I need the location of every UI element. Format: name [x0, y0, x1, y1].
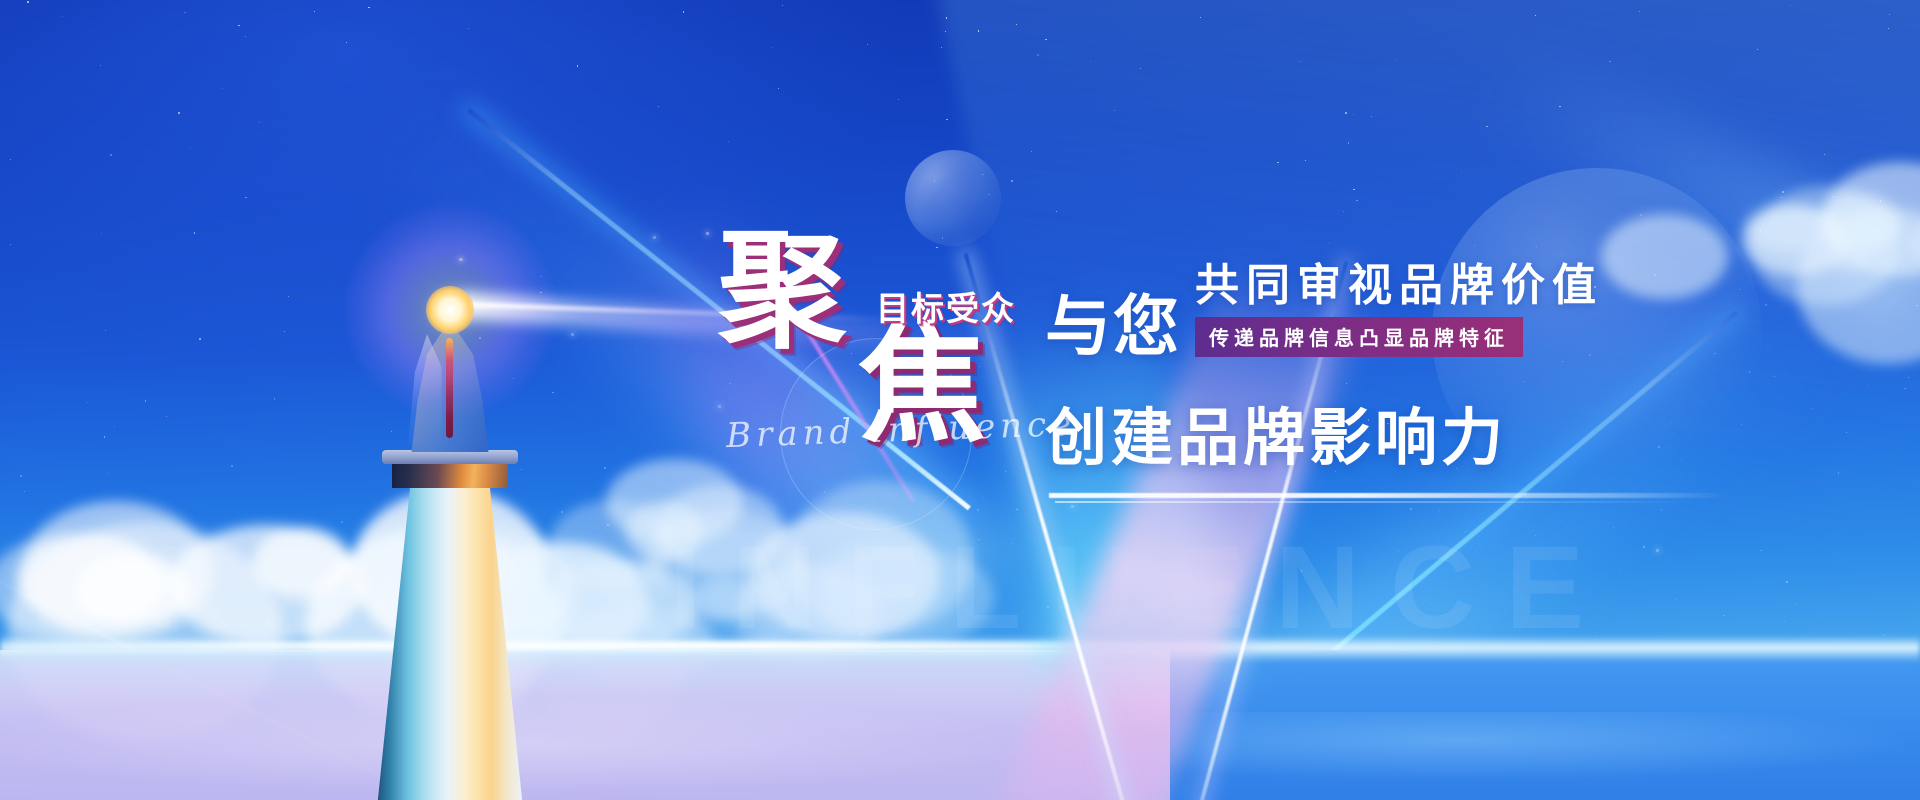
headline-underline-secondary: [1055, 501, 1695, 503]
right-first-line: 与您 共同审视品牌价值 传递品牌信息凸显品牌特征: [1045, 262, 1745, 359]
status-badge: 传递品牌信息凸显品牌特征: [1195, 317, 1523, 357]
value-and-badge-wrap: 共同审视品牌价值 传递品牌信息凸显品牌特征: [1195, 262, 1603, 359]
second-line-text: 创建品牌影响力: [1045, 387, 1745, 477]
script-tagline: Brand influence: [725, 404, 1076, 456]
brand-influence-banner: BRAND INFLUENCE 聚 焦 目标受众 Brand influence…: [0, 0, 1920, 800]
headline-underline: [1049, 493, 1729, 498]
kicker-target-audience: 目标受众: [876, 282, 1016, 330]
headline-char-ju: 聚: [718, 228, 846, 356]
with-you-text: 与您: [1045, 293, 1181, 359]
right-text-block: 与您 共同审视品牌价值 传递品牌信息凸显品牌特征 创建品牌影响力: [1045, 262, 1745, 503]
value-line-text: 共同审视品牌价值: [1195, 262, 1603, 310]
headline-content: 聚 焦 目标受众 Brand influence 与您 共同审视品牌价值 传递品…: [0, 0, 1920, 800]
